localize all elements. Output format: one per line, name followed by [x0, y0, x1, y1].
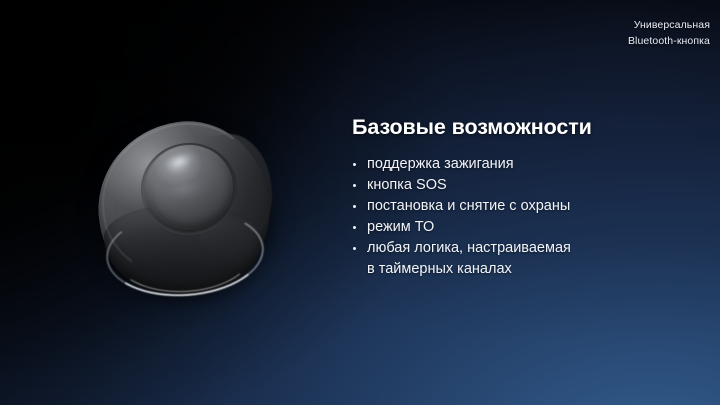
- list-item: поддержка зажигания: [352, 154, 652, 175]
- list-item-label: режим ТО: [367, 217, 652, 238]
- list-item: кнопка SOS: [352, 175, 652, 196]
- bullet-dot-icon: [353, 163, 356, 166]
- presentation-slide: Универсальная Bluetooth-кнопка Базовые в…: [0, 0, 720, 405]
- list-item-label: поддержка зажигания: [367, 154, 652, 175]
- list-item: режим ТО: [352, 217, 652, 238]
- list-item: постановка и снятие с охраны: [352, 196, 652, 217]
- bullet-dot-icon: [353, 226, 356, 229]
- product-caption-line-2: Bluetooth-кнопка: [628, 33, 710, 49]
- bullet-dot-icon: [353, 205, 356, 208]
- content-column: Базовые возможности поддержка зажигания …: [352, 114, 652, 280]
- list-item: любая логика, настраиваемая в таймерных …: [352, 238, 652, 279]
- list-item-label-continuation: в таймерных каналах: [367, 259, 652, 280]
- page-title: Базовые возможности: [352, 114, 652, 140]
- bullet-dot-icon: [353, 184, 356, 187]
- feature-list: поддержка зажигания кнопка SOS постановк…: [352, 154, 652, 279]
- list-item-label: любая логика, настраиваемая: [367, 238, 652, 259]
- bullet-dot-icon: [353, 247, 356, 250]
- list-item-label: кнопка SOS: [367, 175, 652, 196]
- bluetooth-button-device: [94, 118, 270, 294]
- list-item-label: постановка и снятие с охраны: [367, 196, 652, 217]
- product-caption: Универсальная Bluetooth-кнопка: [628, 17, 710, 49]
- product-caption-line-1: Универсальная: [628, 17, 710, 33]
